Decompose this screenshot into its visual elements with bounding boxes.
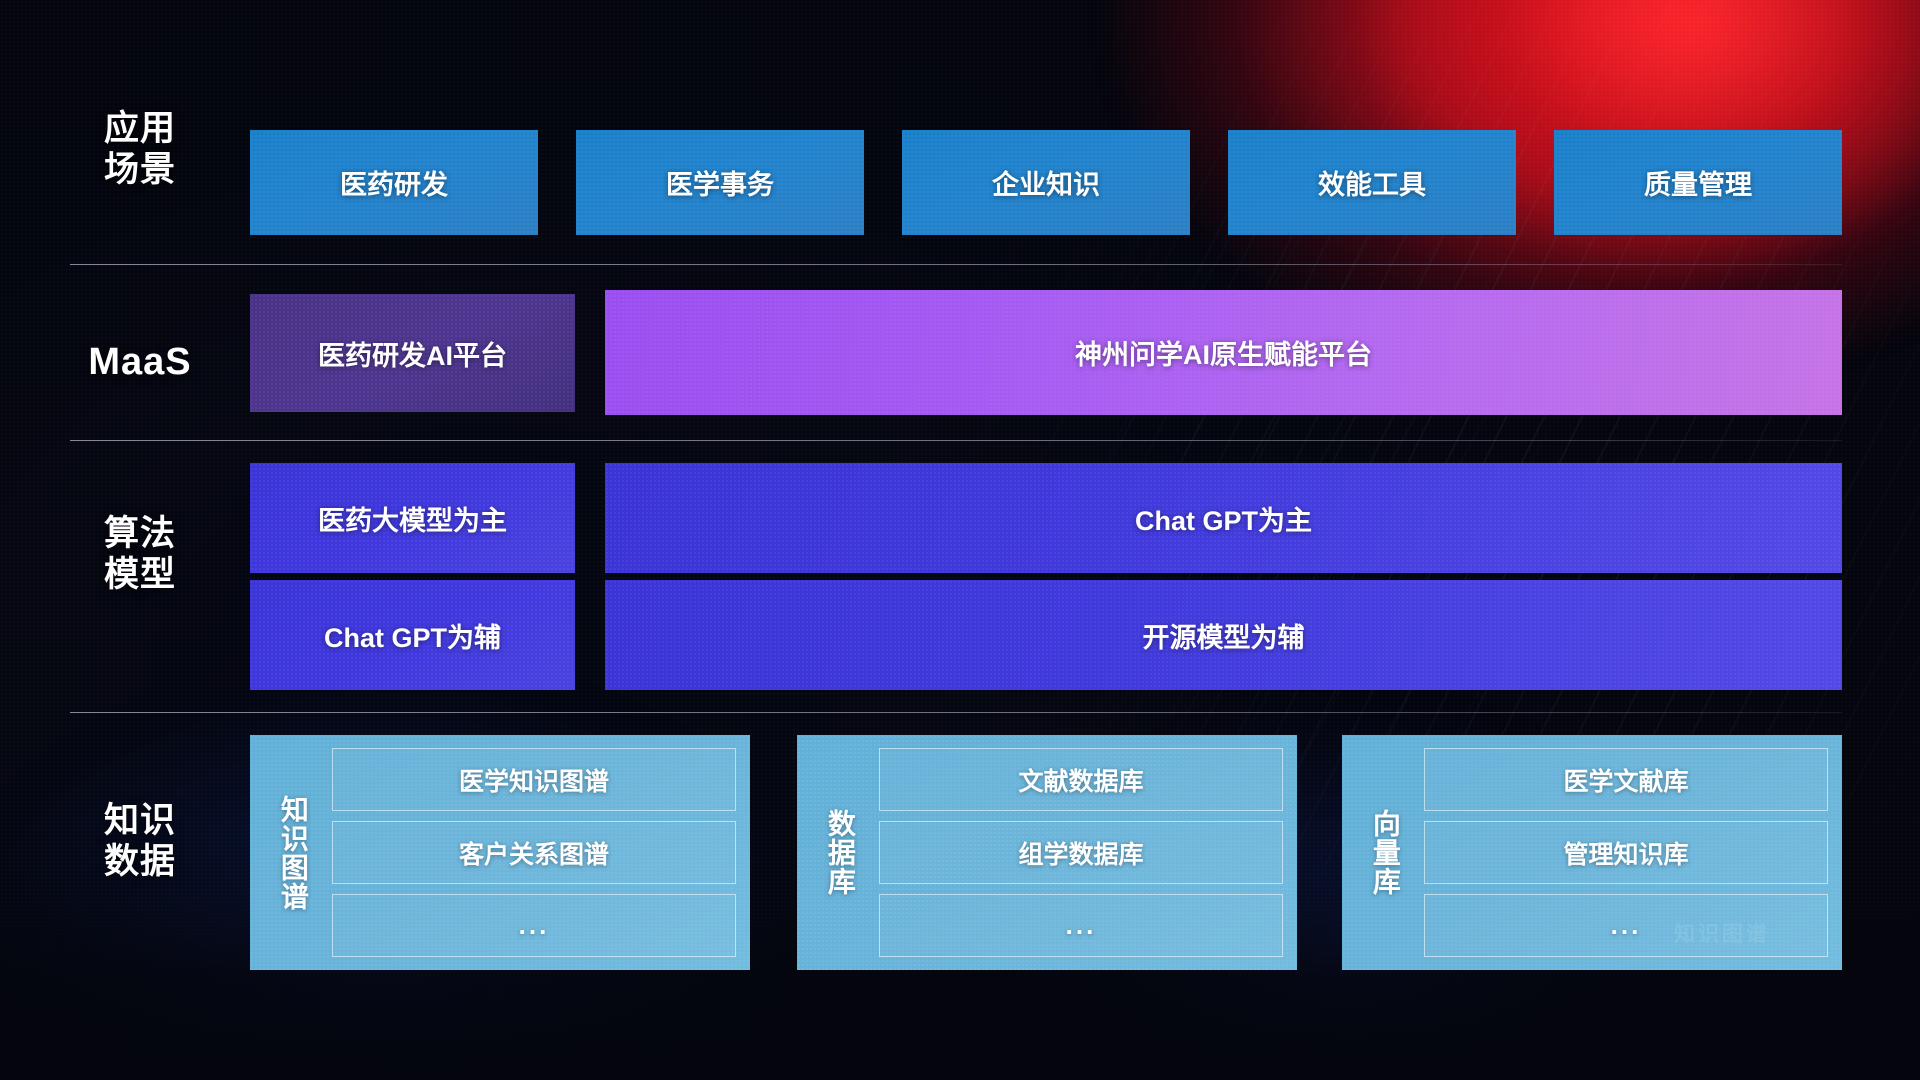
- maas-box-medicine-ai-platform[interactable]: 医药研发AI平台: [250, 294, 575, 412]
- scene-box-label: 质量管理: [1644, 163, 1752, 202]
- maas-box-label: 医药研发AI平台: [318, 334, 507, 373]
- algo-box-label: Chat GPT为辅: [324, 616, 501, 655]
- algo-box-chatgpt-secondary[interactable]: Chat GPT为辅: [250, 580, 575, 690]
- knowledge-item[interactable]: 医学知识图谱: [332, 748, 736, 811]
- knowledge-card-database[interactable]: 数据库 文献数据库 组学数据库 ...: [797, 735, 1297, 970]
- scene-box-medicine-rd[interactable]: 医药研发: [250, 130, 538, 235]
- knowledge-item[interactable]: 组学数据库: [879, 821, 1283, 884]
- maas-box-label: 神州问学AI原生赋能平台: [1075, 333, 1372, 372]
- knowledge-item[interactable]: 客户关系图谱: [332, 821, 736, 884]
- divider-after-algorithm-models: [70, 712, 1842, 713]
- divider-after-maas: [70, 440, 1842, 441]
- knowledge-item-more[interactable]: ...: [879, 894, 1283, 957]
- knowledge-card-items: 医学文献库 管理知识库 ...: [1424, 748, 1828, 957]
- knowledge-card-title: 知识图谱: [264, 748, 322, 957]
- algo-box-label: 医药大模型为主: [318, 499, 507, 538]
- scene-box-label: 医学事务: [666, 163, 774, 202]
- algo-box-chatgpt-primary[interactable]: Chat GPT为主: [605, 463, 1842, 573]
- knowledge-card-vector-store[interactable]: 向量库 医学文献库 管理知识库 ...: [1342, 735, 1842, 970]
- architecture-diagram: 应用 场景 医药研发 医学事务 企业知识 效能工具 质量管理 MaaS 医药研发…: [0, 0, 1920, 1080]
- algo-box-label: 开源模型为辅: [1143, 616, 1305, 655]
- divider-after-application-scenarios: [70, 264, 1842, 265]
- knowledge-card-knowledge-graph[interactable]: 知识图谱 医学知识图谱 客户关系图谱 ...: [250, 735, 750, 970]
- row-label-algorithm-models: 算法 模型: [60, 513, 220, 596]
- knowledge-card-title: 数据库: [811, 748, 869, 957]
- knowledge-item[interactable]: 管理知识库: [1424, 821, 1828, 884]
- knowledge-item[interactable]: 医学文献库: [1424, 748, 1828, 811]
- knowledge-card-title: 向量库: [1356, 748, 1414, 957]
- scene-box-medical-affairs[interactable]: 医学事务: [576, 130, 864, 235]
- scene-box-label: 效能工具: [1318, 163, 1426, 202]
- algo-box-opensource-secondary[interactable]: 开源模型为辅: [605, 580, 1842, 690]
- algo-box-label: Chat GPT为主: [1135, 499, 1312, 538]
- knowledge-card-items: 文献数据库 组学数据库 ...: [879, 748, 1283, 957]
- row-label-maas: MaaS: [60, 340, 220, 385]
- scene-box-quality-management[interactable]: 质量管理: [1554, 130, 1842, 235]
- row-label-knowledge-data: 知识 数据: [60, 800, 220, 883]
- algo-box-medicine-llm-primary[interactable]: 医药大模型为主: [250, 463, 575, 573]
- knowledge-card-items: 医学知识图谱 客户关系图谱 ...: [332, 748, 736, 957]
- scene-box-label: 企业知识: [992, 163, 1100, 202]
- maas-box-shenzhou-wenxue-platform[interactable]: 神州问学AI原生赋能平台: [605, 290, 1842, 415]
- row-label-application-scenarios: 应用 场景: [60, 108, 220, 191]
- knowledge-item[interactable]: 文献数据库: [879, 748, 1283, 811]
- knowledge-item-more[interactable]: ...: [332, 894, 736, 957]
- scene-box-label: 医药研发: [340, 163, 448, 202]
- knowledge-item-more[interactable]: ...: [1424, 894, 1828, 957]
- scene-box-efficiency-tools[interactable]: 效能工具: [1228, 130, 1516, 235]
- scene-box-enterprise-knowledge[interactable]: 企业知识: [902, 130, 1190, 235]
